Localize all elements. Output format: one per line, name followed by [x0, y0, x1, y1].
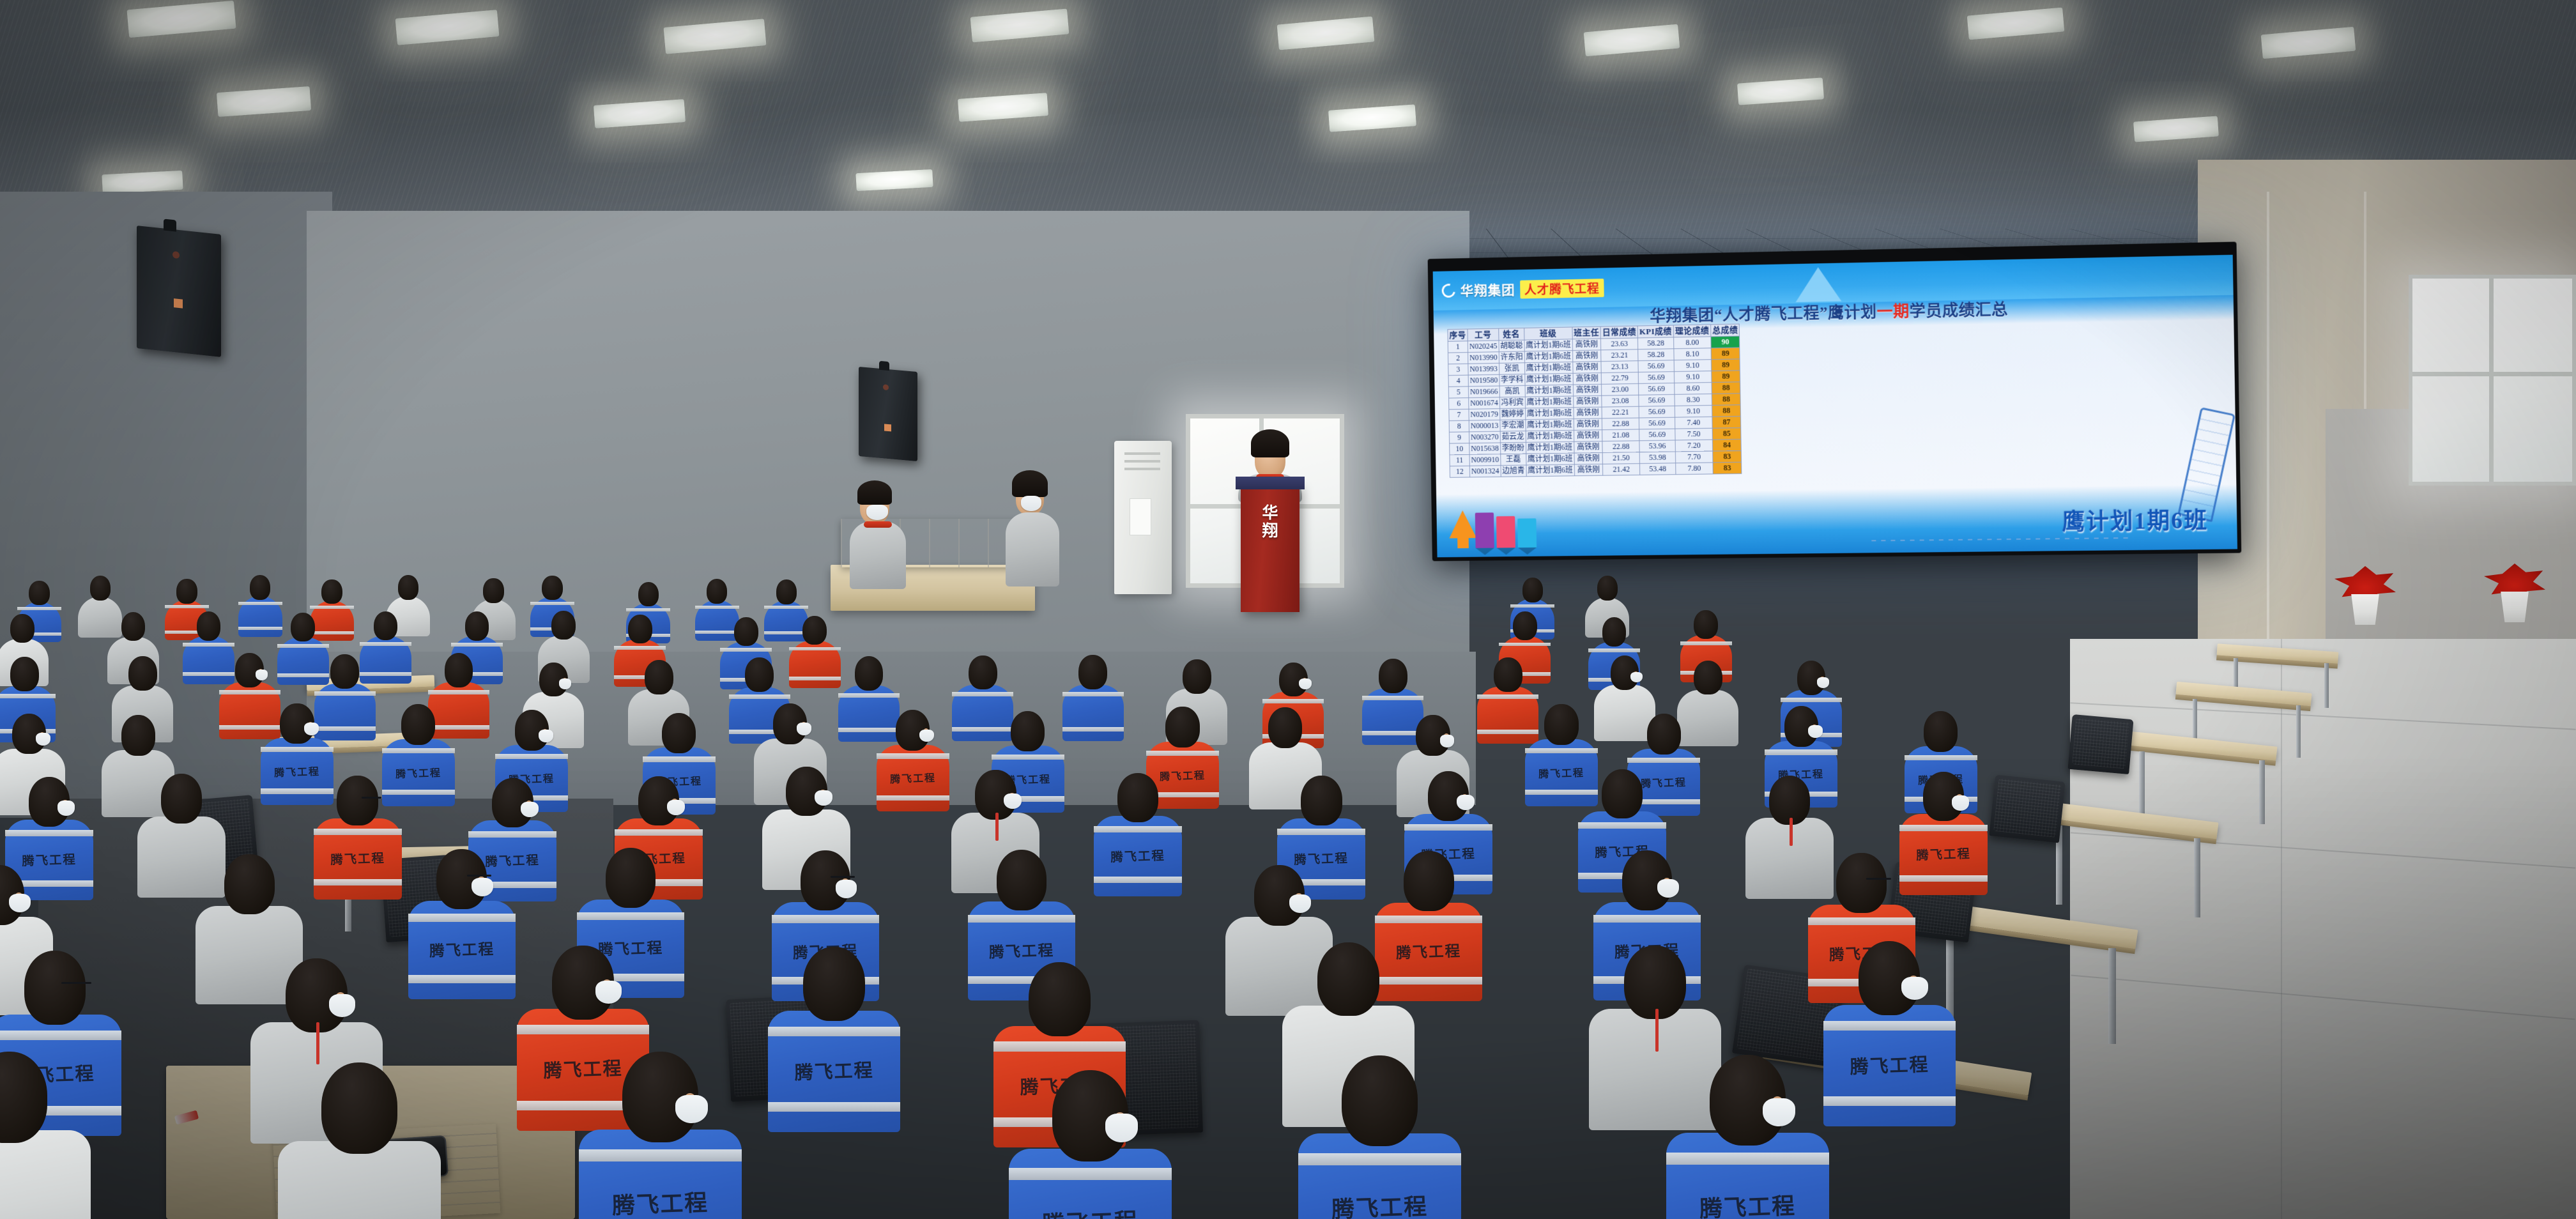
student-class: 鹰计划1期6班 — [1525, 385, 1574, 397]
reflective-stripe — [1627, 758, 1700, 763]
head — [645, 660, 673, 694]
head — [1836, 853, 1886, 913]
reflective-stripe — [1009, 1168, 1172, 1180]
student-id: N000013 — [1469, 420, 1500, 433]
daily-score: 23.00 — [1602, 384, 1639, 396]
reflective-stripe — [1262, 699, 1324, 703]
face-mask — [836, 880, 857, 898]
student-name: 李宏潮 — [1500, 420, 1526, 431]
desk-leg — [2139, 751, 2145, 815]
head — [321, 579, 342, 604]
kpi-score: 56.69 — [1639, 406, 1675, 418]
reflective-stripe — [468, 831, 556, 838]
speaker-bracket — [164, 218, 176, 231]
lanyard — [995, 813, 999, 841]
glasses — [362, 797, 381, 799]
student-no: 10 — [1450, 443, 1469, 455]
kpi-score: 56.69 — [1639, 383, 1675, 395]
theory-score: 7.80 — [1676, 463, 1713, 475]
head — [321, 1062, 397, 1154]
reflective-stripe — [768, 1102, 900, 1112]
lanyard — [1790, 818, 1793, 846]
head — [1317, 942, 1379, 1016]
student-name: 张凯 — [1499, 363, 1524, 374]
face-mask — [559, 678, 571, 689]
face-mask — [9, 894, 31, 912]
speaker-label — [174, 298, 183, 308]
air-conditioner — [1114, 441, 1172, 594]
total-score: 89 — [1711, 359, 1740, 371]
student-id: N020179 — [1469, 409, 1500, 421]
head — [1694, 610, 1718, 639]
head — [224, 854, 274, 914]
reflective-stripe — [615, 829, 703, 836]
student-no: 7 — [1449, 410, 1469, 421]
student-no: 5 — [1448, 387, 1468, 398]
audience-member: 腾飞工程 — [1298, 1055, 1461, 1219]
theory-score: 8.00 — [1673, 337, 1711, 349]
face-mask — [304, 723, 319, 735]
face-mask — [1440, 735, 1455, 747]
reflective-stripe — [314, 829, 402, 835]
total-score: 88 — [1712, 405, 1740, 417]
head — [398, 575, 418, 600]
reflective-stripe — [1808, 917, 1915, 925]
head — [291, 613, 315, 641]
audience-member: 腾飞工程 — [1094, 773, 1182, 896]
face-mask — [1901, 977, 1928, 1000]
head — [1602, 617, 1627, 646]
face-mask — [1808, 725, 1823, 738]
vest-logo-text: 腾飞工程 — [1298, 1187, 1462, 1219]
head — [1183, 659, 1211, 694]
reflective-stripe — [183, 643, 234, 647]
head — [1379, 659, 1407, 693]
student-name: 魏婷婷 — [1499, 408, 1525, 420]
chair[interactable] — [1989, 775, 2065, 843]
reflective-stripe — [626, 608, 670, 611]
reflective-stripe — [1499, 643, 1551, 647]
vest-logo-text: 腾飞工程 — [1094, 845, 1183, 866]
face-mask — [919, 730, 934, 742]
student-id: N019666 — [1468, 386, 1499, 398]
desk-leg — [2259, 760, 2265, 824]
kpi-score: 58.28 — [1638, 349, 1674, 361]
head — [1694, 661, 1722, 695]
column-header-name: 姓名 — [1498, 328, 1524, 341]
student-no: 4 — [1448, 375, 1468, 387]
reflective-stripe — [838, 693, 900, 698]
reflective-stripe — [428, 690, 489, 694]
hair — [1012, 470, 1048, 497]
head — [10, 614, 34, 643]
class-teacher: 高铁刚 — [1573, 395, 1602, 408]
face-mask — [1817, 677, 1829, 688]
audience-member: 腾飞工程 — [579, 1052, 742, 1219]
audience-member: 腾飞工程 — [314, 776, 402, 899]
head — [1494, 657, 1522, 692]
reflective-stripe — [277, 644, 329, 648]
column-header-id: 工号 — [1468, 328, 1499, 341]
kpi-score: 56.69 — [1638, 372, 1674, 384]
student-no: 1 — [1448, 341, 1468, 353]
lanyard — [1655, 1009, 1659, 1051]
vest-logo-text: 腾飞工程 — [408, 936, 516, 962]
head — [606, 848, 655, 908]
audience-member — [238, 575, 282, 637]
reflective-stripe — [772, 915, 879, 923]
head — [628, 615, 652, 643]
torso — [1006, 512, 1059, 586]
student-no: 2 — [1448, 353, 1468, 364]
class-teacher: 高铁刚 — [1574, 464, 1603, 476]
reflective-stripe — [614, 646, 666, 650]
head — [855, 656, 884, 691]
face-mask — [57, 801, 75, 816]
theory-score: 7.70 — [1675, 451, 1713, 463]
speaker-driver-icon — [883, 384, 889, 390]
head — [176, 579, 197, 604]
head — [776, 579, 797, 604]
reflective-stripe — [768, 1027, 900, 1036]
student-id: N019580 — [1468, 375, 1499, 387]
reflective-stripe — [1578, 822, 1666, 829]
reflective-stripe — [720, 648, 772, 652]
reflective-stripe — [993, 1041, 1126, 1051]
head — [969, 655, 997, 690]
reflective-stripe — [1062, 692, 1124, 696]
class-name-title: 鹰计划1期6班 — [2062, 502, 2208, 537]
head — [551, 611, 576, 640]
head — [542, 576, 562, 601]
desk-leg — [2324, 663, 2329, 708]
reflective-stripe — [1062, 727, 1124, 732]
vest-logo-text: 腾飞工程 — [313, 847, 402, 868]
reflective-stripe — [877, 753, 949, 758]
reflective-stripe — [408, 975, 516, 983]
vest-logo-text: 腾飞工程 — [767, 1054, 900, 1085]
total-score: 88 — [1712, 394, 1740, 406]
wall-speaker-left — [137, 226, 221, 357]
right-window — [2409, 275, 2576, 486]
head — [90, 576, 111, 601]
head — [1268, 707, 1302, 748]
face-mask — [1004, 793, 1022, 809]
student-class: 鹰计划1期6班 — [1526, 419, 1574, 431]
kpi-score: 56.69 — [1639, 429, 1675, 441]
reflective-stripe — [1588, 648, 1640, 652]
window-mullion — [2412, 372, 2572, 376]
total-score: 88 — [1712, 382, 1740, 394]
face-mask — [797, 723, 811, 735]
audience-member — [789, 616, 841, 688]
head — [1342, 1055, 1418, 1147]
reflective-stripe — [408, 914, 516, 921]
total-score: 85 — [1712, 428, 1741, 440]
glasses — [61, 982, 91, 984]
pencil-pink-icon — [1496, 516, 1515, 548]
head — [803, 947, 865, 1021]
head — [802, 616, 827, 645]
face-mask — [1630, 672, 1643, 683]
head — [24, 951, 86, 1025]
total-score: 89 — [1712, 371, 1740, 383]
reflective-stripe — [165, 605, 209, 608]
reflective-stripe — [360, 642, 411, 646]
student-class: 鹰计划1期6班 — [1524, 374, 1573, 386]
head — [1602, 769, 1643, 818]
reflective-stripe — [579, 1149, 742, 1161]
face-mask — [1952, 795, 1970, 811]
reflective-stripe — [0, 1031, 121, 1040]
reflective-stripe — [1899, 825, 1988, 831]
daily-score: 21.50 — [1602, 452, 1639, 464]
staff-member-left — [847, 474, 908, 589]
podium-brand-text: 华 翔 — [1241, 505, 1299, 540]
theory-score: 7.40 — [1675, 417, 1712, 429]
student-class: 鹰计划1期6班 — [1526, 453, 1574, 465]
reflective-stripe — [1362, 696, 1423, 700]
banner-peak-decoration — [1795, 267, 1842, 302]
reflective-stripe — [992, 755, 1064, 760]
reflective-stripe — [451, 643, 503, 647]
reflective-stripe — [1375, 916, 1482, 923]
class-teacher: 高铁刚 — [1573, 385, 1602, 397]
reflective-stripe — [1823, 1021, 1956, 1031]
reflective-stripe — [1146, 751, 1219, 756]
reflective-stripe — [1277, 829, 1365, 835]
audience-member: 腾飞工程 — [877, 710, 949, 812]
face-mask — [1457, 795, 1475, 810]
reflective-stripe — [495, 754, 568, 759]
reflective-stripe — [238, 602, 282, 605]
theory-score: 8.10 — [1674, 348, 1712, 360]
reflective-stripe — [1298, 1153, 1461, 1165]
reflective-stripe — [1510, 604, 1554, 608]
kpi-score: 58.28 — [1638, 337, 1674, 349]
floor-tile-seam — [2071, 974, 2575, 1020]
speaker-label — [884, 424, 891, 431]
hair — [857, 480, 892, 505]
student-no: 6 — [1449, 398, 1469, 410]
kpi-score: 53.98 — [1639, 452, 1675, 464]
daily-score: 21.42 — [1603, 464, 1640, 476]
total-score: 90 — [1711, 336, 1740, 348]
head — [1924, 711, 1958, 752]
face-mask — [1299, 678, 1311, 689]
daily-score: 22.88 — [1602, 418, 1639, 430]
head — [745, 657, 774, 692]
head — [1011, 711, 1045, 752]
column-header-theory: 理论成绩 — [1673, 325, 1711, 337]
class-teacher: 高铁刚 — [1574, 430, 1602, 441]
chair-mesh-back — [1993, 778, 2061, 838]
speaker-bracket — [879, 361, 889, 371]
daily-score: 23.13 — [1601, 361, 1638, 373]
head — [1544, 704, 1578, 745]
face-mask — [595, 981, 622, 1004]
face-mask — [675, 1095, 708, 1123]
reflective-stripe — [17, 607, 61, 610]
class-teacher: 高铁刚 — [1574, 441, 1602, 453]
total-score: 89 — [1711, 348, 1740, 360]
student-no: 3 — [1448, 364, 1468, 376]
student-name: 李盼盼 — [1500, 443, 1526, 454]
kpi-score: 53.96 — [1639, 440, 1675, 452]
column-header-kpi: KPI成绩 — [1637, 325, 1673, 338]
face-mask — [1657, 879, 1679, 898]
speaker-driver-icon — [172, 251, 180, 259]
audience-member — [278, 1062, 441, 1219]
daily-score: 23.21 — [1601, 349, 1638, 362]
vest-logo-text: 腾飞工程 — [1823, 1048, 1956, 1080]
vest-logo-text: 腾飞工程 — [876, 769, 949, 786]
student-name: 高凯 — [1499, 386, 1525, 397]
right-wall-seam — [2267, 192, 2269, 639]
podium-char-2: 翔 — [1241, 523, 1299, 540]
window-mullion — [2489, 279, 2494, 482]
student-id: N009910 — [1469, 454, 1501, 466]
slide-title-suffix: 学员成绩汇总 — [1909, 302, 2008, 321]
head — [1078, 655, 1107, 689]
reflective-stripe — [530, 602, 574, 605]
floor — [2070, 639, 2576, 1219]
head — [374, 611, 398, 640]
theory-score: 9.10 — [1674, 360, 1712, 372]
head — [1624, 946, 1686, 1020]
column-header-class: 班级 — [1524, 327, 1572, 340]
reflective-stripe — [1593, 915, 1701, 923]
reflective-stripe — [310, 606, 354, 609]
face-mask — [471, 878, 493, 896]
total-score: 87 — [1712, 417, 1741, 429]
head — [707, 579, 727, 604]
column-header-no: 序号 — [1448, 329, 1468, 342]
floor-tile-seam — [2281, 639, 2282, 1219]
head — [997, 850, 1046, 910]
student-name: 胡聪聪 — [1499, 340, 1524, 352]
reflective-stripe — [968, 915, 1075, 923]
head — [483, 578, 503, 603]
class-teacher: 高铁刚 — [1574, 453, 1603, 464]
classroom-scene: 华翔集团 人才腾飞工程 华翔集团“人才腾飞工程”鹰计划一期学员成绩汇总 序号 工… — [0, 0, 2576, 1219]
student-name: 茹云龙 — [1500, 431, 1526, 443]
orange-arrow-stem-icon — [1457, 523, 1469, 549]
student-class: 鹰计划1期6班 — [1525, 408, 1574, 420]
kpi-score: 56.69 — [1639, 417, 1675, 429]
head — [662, 713, 696, 754]
reflective-stripe — [952, 692, 1013, 696]
head — [1522, 578, 1543, 602]
student-name: 冯利宾 — [1499, 397, 1525, 408]
reflective-stripe — [789, 677, 841, 680]
reflective-stripe — [1525, 748, 1598, 753]
reflective-stripe — [1680, 641, 1732, 645]
face-mask — [1105, 1114, 1138, 1142]
student-class: 鹰计划1期6班 — [1526, 431, 1574, 443]
class-teacher: 高铁刚 — [1572, 339, 1601, 351]
reflective-stripe — [764, 606, 808, 609]
student-no: 11 — [1450, 455, 1469, 466]
ac-control-panel[interactable] — [1130, 498, 1151, 535]
reflective-stripe — [1404, 824, 1492, 831]
audience-member: 腾飞工程 — [1666, 1055, 1829, 1219]
reflective-stripe — [1477, 694, 1538, 699]
reflective-stripe — [314, 691, 376, 696]
reflective-stripe — [877, 795, 949, 801]
glasses — [467, 875, 491, 877]
head — [1301, 776, 1342, 825]
podium-top — [1236, 477, 1305, 489]
reflective-stripe — [789, 647, 841, 651]
reflective-stripe — [314, 879, 402, 885]
student-name: 许东阳 — [1499, 351, 1524, 363]
face-mask — [667, 800, 685, 815]
collar — [864, 521, 892, 528]
theory-score: 9.10 — [1675, 406, 1712, 418]
led-display-screen[interactable]: 华翔集团 人才腾飞工程 华翔集团“人才腾飞工程”鹰计划一期学员成绩汇总 序号 工… — [1428, 241, 2242, 561]
vest-logo-text: 腾飞工程 — [968, 937, 1076, 963]
theory-score: 7.50 — [1675, 428, 1713, 440]
head — [121, 715, 155, 756]
reflective-stripe — [238, 627, 282, 630]
head — [401, 704, 435, 745]
student-class: 鹰计划1期6班 — [1524, 362, 1573, 374]
student-id: N003270 — [1469, 431, 1501, 443]
podium: 华 翔 — [1241, 484, 1299, 612]
student-id: N013990 — [1468, 352, 1499, 364]
desk-leg — [2194, 838, 2200, 917]
student-id: N001324 — [1469, 466, 1501, 477]
floor-tile-seam — [2071, 832, 2575, 868]
head — [445, 653, 473, 687]
head — [1597, 576, 1618, 601]
reflective-stripe — [261, 747, 333, 752]
head — [1404, 851, 1453, 911]
face-mask — [1021, 496, 1041, 511]
reflective-stripe — [1765, 749, 1837, 755]
reflective-stripe — [1905, 755, 1977, 760]
work-uniform — [0, 1130, 91, 1219]
theory-score: 8.30 — [1675, 394, 1712, 406]
lanyard — [316, 1022, 319, 1064]
head — [465, 611, 489, 640]
student-id: N013993 — [1468, 364, 1499, 376]
head — [1029, 962, 1091, 1036]
pencil-purple-icon — [1475, 512, 1494, 548]
desk-leg — [2108, 948, 2116, 1044]
student-class: 鹰计划1期6班 — [1524, 339, 1573, 351]
head — [128, 656, 157, 691]
daily-score: 21.08 — [1602, 429, 1639, 441]
grades-table: 序号 工号 姓名 班级 班主任 日常成绩 KPI成绩 理论成绩 总成绩 1N02… — [1447, 324, 1742, 479]
chair[interactable] — [2067, 714, 2133, 774]
reflective-stripe — [382, 748, 455, 753]
reflective-stripe — [1094, 877, 1182, 883]
vest-logo-text: 腾飞工程 — [578, 1183, 742, 1219]
reflective-stripe — [5, 830, 93, 836]
class-teacher: 高铁刚 — [1572, 350, 1601, 362]
student-id: N015638 — [1469, 443, 1501, 454]
reflective-stripe — [1823, 1096, 1956, 1106]
student-id: N020245 — [1468, 341, 1499, 353]
audience-member: 腾飞工程 — [408, 849, 516, 999]
total-score: 83 — [1713, 463, 1742, 475]
reflective-stripe — [517, 1025, 649, 1034]
daily-score: 22.21 — [1602, 406, 1639, 418]
slide-content: 华翔集团 人才腾飞工程 华翔集团“人才腾飞工程”鹰计划一期学员成绩汇总 序号 工… — [1433, 255, 2237, 558]
head — [161, 774, 202, 823]
